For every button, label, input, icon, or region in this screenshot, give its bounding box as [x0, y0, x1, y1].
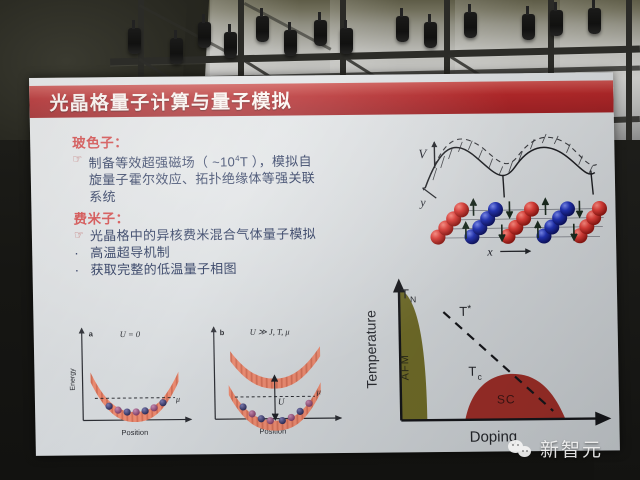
stage-light [198, 22, 211, 48]
mott-a-xlabel: Position [121, 428, 148, 437]
phase-curve-label-tc: T c [468, 364, 482, 382]
mott-b-upper-band [230, 346, 321, 389]
mott-panel-a: Energy Position a U = 0 μ [69, 326, 193, 437]
watermark-text: 新智元 [540, 435, 603, 462]
mott-a-tag: a [89, 329, 94, 338]
svg-text:T: T [459, 304, 467, 319]
stage-light [224, 32, 237, 58]
lattice-axis-label-y: y [419, 195, 426, 209]
lattice-well-walls [503, 171, 593, 198]
stage-light [314, 20, 327, 46]
lattice-surface-ribs [432, 134, 593, 181]
truss-post [626, 0, 632, 146]
figure-mott-panels: Energy Position a U = 0 μ [61, 318, 353, 443]
hand-pointer-icon: ☞ [74, 228, 86, 245]
phase-x-arrowhead [595, 411, 611, 425]
mott-a-condition: U = 0 [120, 329, 141, 339]
bullet-line: 制备等效超强磁场（ ~104T ），模拟自 [88, 148, 402, 171]
stage-light [340, 28, 353, 54]
mott-panel-b: Position b U ≫ J, T, μ μ U [211, 325, 343, 436]
stage-light [424, 22, 437, 48]
svg-text:c: c [477, 372, 482, 382]
hand-pointer-icon: ☞ [72, 151, 84, 168]
svg-text:T: T [468, 364, 476, 379]
mott-b-condition: U ≫ J, T, μ [250, 327, 290, 337]
stage-light [522, 14, 535, 40]
watermark: 新智元 [508, 435, 603, 462]
bullet-line: 系统 [89, 186, 403, 206]
phase-curve-label-tstar: T * [459, 304, 471, 319]
dot-bullet-icon: · [74, 245, 86, 262]
stage-light [550, 10, 563, 36]
stage-light [170, 38, 183, 64]
lattice-potential-surface [424, 137, 597, 188]
svg-text:T: T [401, 286, 409, 301]
figure-optical-lattice: V y [402, 124, 609, 261]
phase-region-label-sc: SC [497, 392, 516, 406]
dot-bullet-icon: · [74, 262, 86, 279]
stage-light [588, 8, 601, 34]
stage-light [284, 30, 297, 56]
svg-text:*: * [467, 304, 471, 315]
slide-body-text: 玻色子： ☞ 制备等效超强磁场（ ~104T ），模拟自 旋量子霍尔效应、拓扑绝… [72, 126, 405, 278]
stage-light [128, 28, 141, 54]
stage-light [396, 16, 409, 42]
mott-a-ylabel: Energy [69, 368, 76, 391]
phase-ylabel: Temperature [362, 310, 379, 389]
presentation-slide: 光晶格量子计算与量子模拟 玻色子： ☞ 制备等效超强磁场（ ~104T ），模拟… [29, 72, 620, 456]
mott-a-mu-label: μ [175, 395, 180, 404]
stage-light [256, 16, 269, 42]
phase-region-label-afm: AFM [399, 354, 411, 380]
lattice-axis-label-v: V [418, 146, 428, 161]
bullet-item: ☞ 制备等效超强磁场（ ~104T ），模拟自 [72, 148, 402, 171]
lattice-axis-x [500, 248, 531, 254]
lattice-axis-v [431, 141, 437, 168]
mott-b-u-label: U [278, 397, 285, 407]
figure-phase-diagram: Temperature Doping AFM SC T N T * T c [355, 268, 620, 452]
mott-b-tag: b [220, 328, 225, 337]
mott-b-mu-label: μ [316, 387, 321, 396]
lattice-axis-label-x: x [486, 245, 493, 259]
stage-light [464, 12, 477, 38]
wechat-icon [508, 439, 534, 459]
svg-text:N: N [410, 294, 416, 304]
page-title: 光晶格量子计算与量子模拟 [49, 86, 292, 115]
slide-title-band: 光晶格量子计算与量子模拟 [29, 80, 614, 118]
